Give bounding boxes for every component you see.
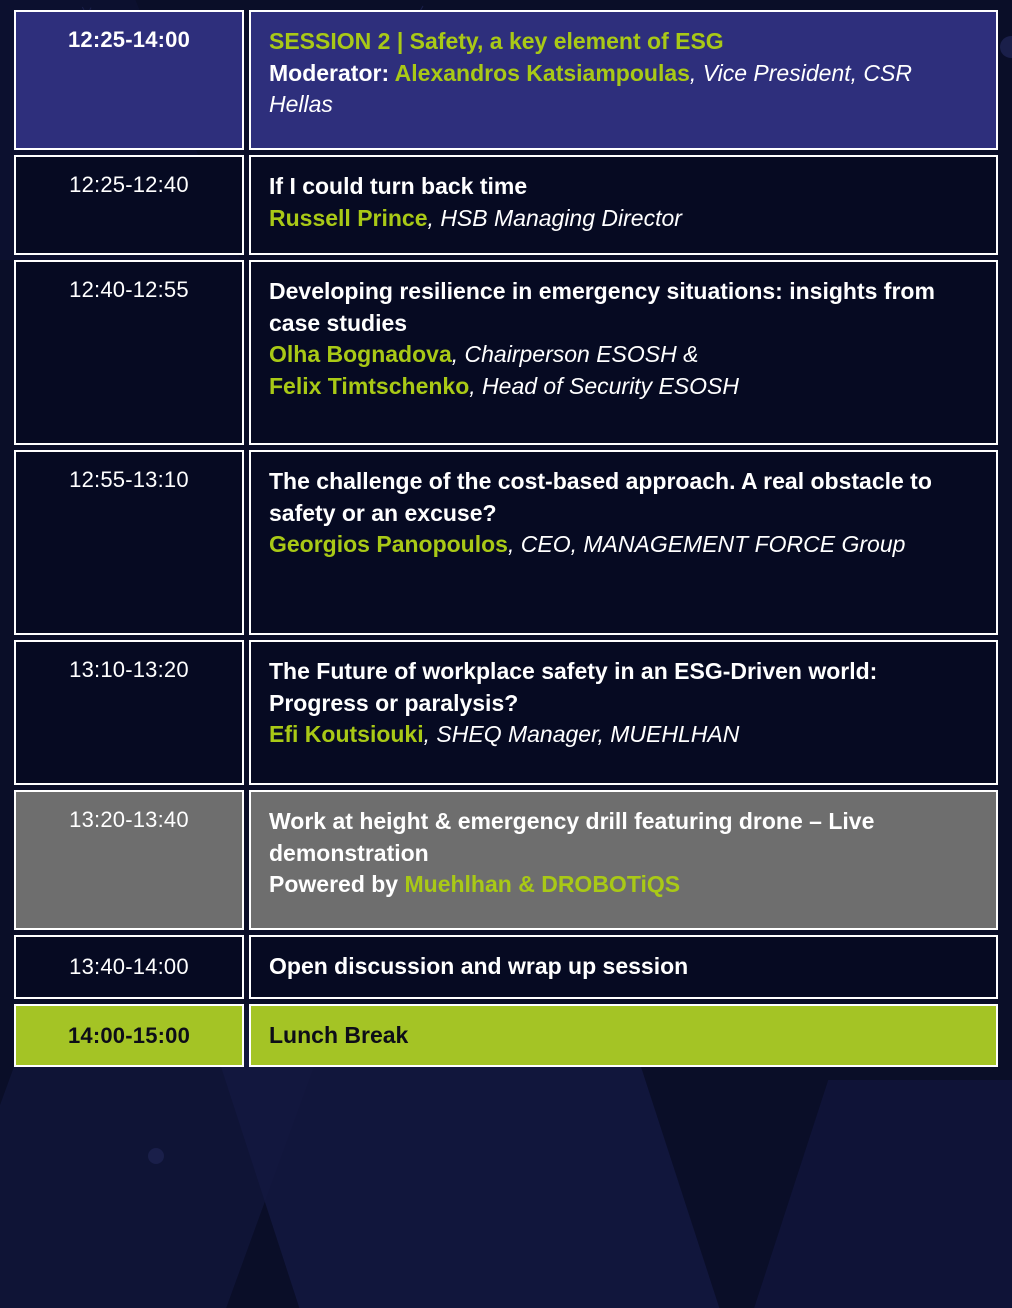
agenda-time-label: 13:20-13:40	[69, 806, 189, 834]
agenda-text-segment: The Future of workplace safety in an ESG…	[269, 658, 877, 716]
agenda-row: 12:40-12:55Developing resilience in emer…	[14, 260, 998, 445]
agenda-time-cell: 13:20-13:40	[14, 790, 244, 930]
agenda-text-segment: ,	[469, 373, 482, 399]
agenda-detail-line: Russell Prince, HSB Managing Director	[269, 203, 978, 235]
agenda-detail-line: Felix Timtschenko, Head of Security ESOS…	[269, 371, 978, 403]
agenda-time-cell: 12:25-12:40	[14, 155, 244, 255]
agenda-text-segment: SHEQ Manager, MUEHLHAN	[436, 721, 739, 747]
agenda-time-label: 12:25-14:00	[68, 26, 190, 54]
agenda-detail-line: Open discussion and wrap up session	[269, 951, 688, 983]
agenda-time-label: 13:10-13:20	[69, 656, 189, 684]
agenda-text-segment: ,	[690, 60, 703, 86]
agenda-text-segment: ,	[452, 341, 465, 367]
agenda-time-label: 12:25-12:40	[69, 171, 189, 199]
agenda-time-cell: 14:00-15:00	[14, 1004, 244, 1068]
agenda-text-segment: Lunch Break	[269, 1022, 408, 1048]
agenda-detail-cell: SESSION 2 | Safety, a key element of ESG…	[249, 10, 998, 150]
agenda-text-segment: CEO, MANAGEMENT FORCE Group	[521, 531, 906, 557]
agenda-row: 13:10-13:20The Future of workplace safet…	[14, 640, 998, 785]
agenda-row: 14:00-15:00Lunch Break	[14, 1004, 998, 1068]
agenda-text-segment: ,	[428, 205, 441, 231]
agenda-text-segment: Chairperson ESOSH &	[465, 341, 699, 367]
agenda-time-label: 14:00-15:00	[68, 1022, 190, 1050]
agenda-detail-line: If I could turn back time	[269, 171, 978, 203]
agenda-detail-line: Moderator: Alexandros Katsiampoulas, Vic…	[269, 58, 978, 121]
agenda-time-cell: 12:40-12:55	[14, 260, 244, 445]
agenda-detail-line: Efi Koutsiouki, SHEQ Manager, MUEHLHAN	[269, 719, 978, 751]
agenda-detail-cell: Open discussion and wrap up session	[249, 935, 998, 999]
agenda-row: 13:40-14:00Open discussion and wrap up s…	[14, 935, 998, 999]
agenda-row: 12:25-12:40If I could turn back timeRuss…	[14, 155, 998, 255]
agenda-text-segment: Work at height & emergency drill featuri…	[269, 808, 874, 866]
agenda-row: 12:55-13:10The challenge of the cost-bas…	[14, 450, 998, 635]
agenda-speaker-name: Alexandros Katsiampoulas	[395, 60, 690, 86]
agenda-text-segment: Open discussion and wrap up session	[269, 953, 688, 979]
agenda-detail-cell: The challenge of the cost-based approach…	[249, 450, 998, 635]
agenda-table: 12:25-14:00SESSION 2 | Safety, a key ele…	[14, 10, 998, 1072]
agenda-row: 12:25-14:00SESSION 2 | Safety, a key ele…	[14, 10, 998, 150]
agenda-text-segment: Powered by	[269, 871, 404, 897]
agenda-detail-cell: If I could turn back timeRussell Prince,…	[249, 155, 998, 255]
bg-dot-5	[148, 1148, 164, 1164]
agenda-detail-line: SESSION 2 | Safety, a key element of ESG	[269, 26, 978, 58]
agenda-speaker-name: Felix Timtschenko	[269, 373, 469, 399]
agenda-text-segment: ,	[424, 721, 437, 747]
agenda-detail-line: The Future of workplace safety in an ESG…	[269, 656, 978, 719]
agenda-time-cell: 12:25-14:00	[14, 10, 244, 150]
agenda-time-label: 12:55-13:10	[69, 466, 189, 494]
agenda-time-label: 12:40-12:55	[69, 276, 189, 304]
agenda-detail-line: Lunch Break	[269, 1020, 408, 1052]
agenda-detail-cell: Work at height & emergency drill featuri…	[249, 790, 998, 930]
agenda-speaker-name: Russell Prince	[269, 205, 428, 231]
agenda-row: 13:20-13:40Work at height & emergency dr…	[14, 790, 998, 930]
bg-dot-1	[1000, 36, 1012, 58]
agenda-detail-cell: The Future of workplace safety in an ESG…	[249, 640, 998, 785]
agenda-speaker-name: Efi Koutsiouki	[269, 721, 424, 747]
agenda-text-segment: Moderator:	[269, 60, 395, 86]
agenda-detail-line: The challenge of the cost-based approach…	[269, 466, 978, 529]
agenda-speaker-name: Olha Bognadova	[269, 341, 452, 367]
agenda-detail-line: Olha Bognadova, Chairperson ESOSH &	[269, 339, 978, 371]
agenda-detail-line: Powered by Muehlhan & DROBOTiQS	[269, 869, 978, 901]
agenda-time-cell: 13:10-13:20	[14, 640, 244, 785]
agenda-detail-cell: Developing resilience in emergency situa…	[249, 260, 998, 445]
agenda-time-label: 13:40-14:00	[69, 953, 189, 981]
agenda-speaker-name: Georgios Panopoulos	[269, 531, 508, 557]
agenda-text-segment: HSB Managing Director	[440, 205, 682, 231]
agenda-text-segment: If I could turn back time	[269, 173, 527, 199]
bg-shape-bottom-right	[692, 1080, 1012, 1308]
agenda-speaker-name: Muehlhan & DROBOTiQS	[404, 871, 680, 897]
agenda-text-segment: Developing resilience in emergency situa…	[269, 278, 935, 336]
agenda-detail-line: Developing resilience in emergency situa…	[269, 276, 978, 339]
agenda-detail-line: Georgios Panopoulos, CEO, MANAGEMENT FOR…	[269, 529, 978, 561]
agenda-time-cell: 13:40-14:00	[14, 935, 244, 999]
agenda-speaker-name: SESSION 2 | Safety, a key element of ESG	[269, 28, 724, 54]
agenda-detail-cell: Lunch Break	[249, 1004, 998, 1068]
agenda-text-segment: The challenge of the cost-based approach…	[269, 468, 932, 526]
agenda-detail-line: Work at height & emergency drill featuri…	[269, 806, 978, 869]
agenda-text-segment: Head of Security ESOSH	[482, 373, 739, 399]
bg-shape-bottom-center	[216, 1050, 805, 1308]
agenda-text-segment: ,	[508, 531, 521, 557]
agenda-time-cell: 12:55-13:10	[14, 450, 244, 635]
